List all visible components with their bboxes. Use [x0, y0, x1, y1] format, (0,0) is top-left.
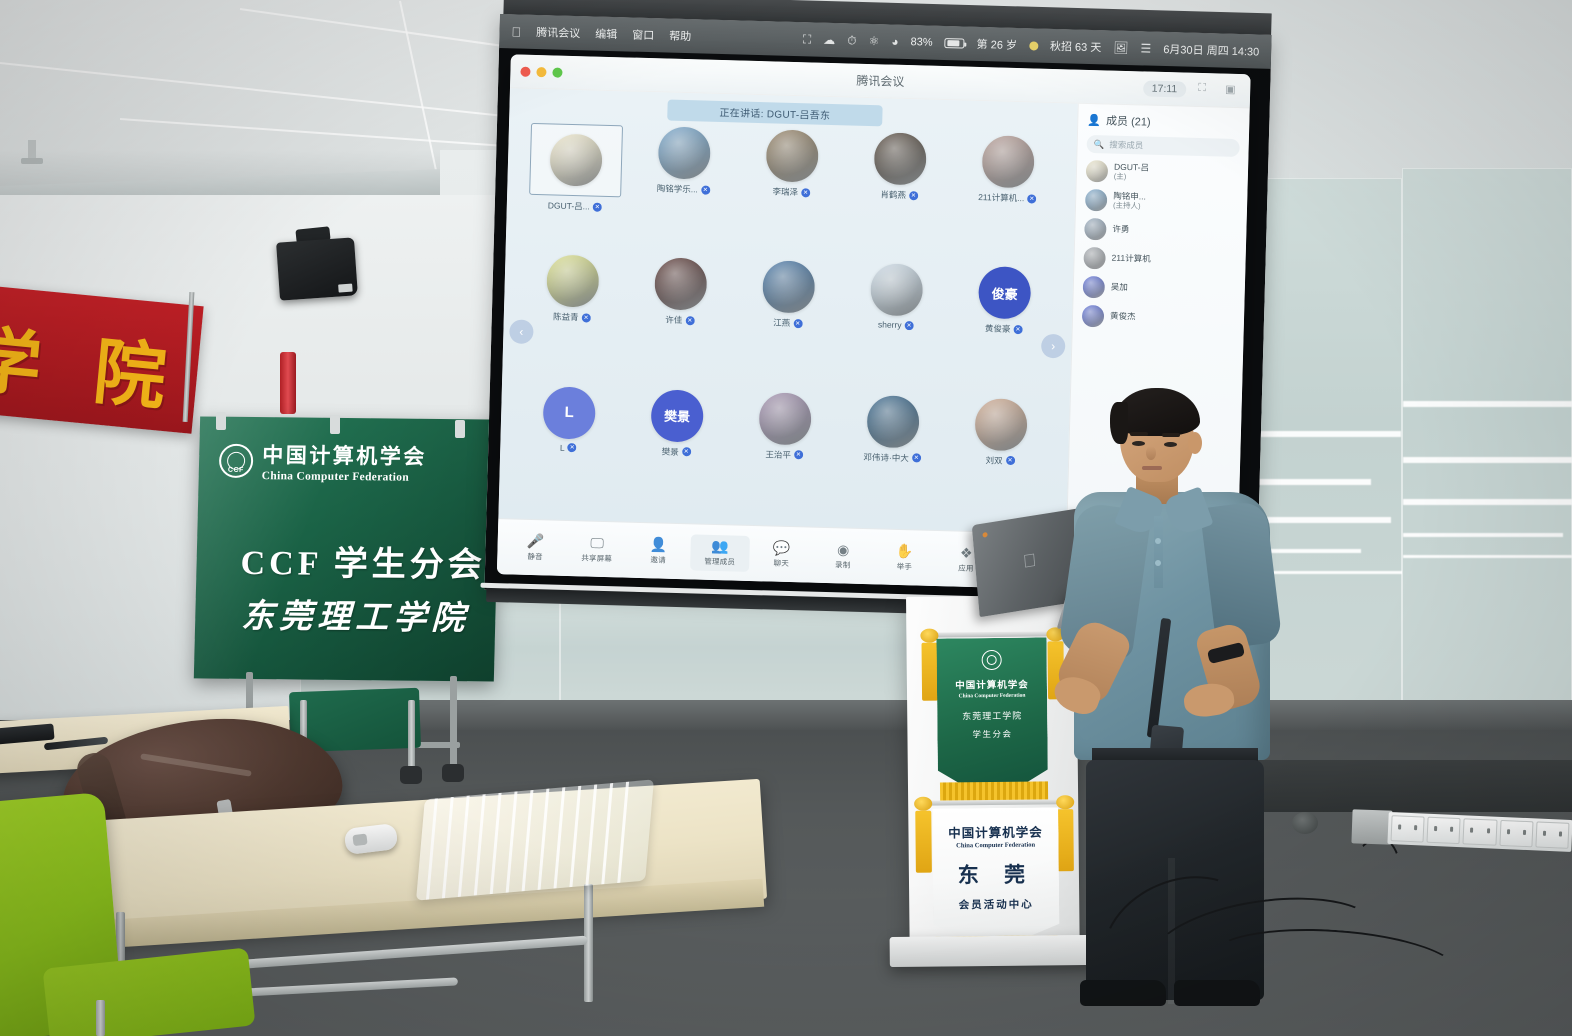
sidebar-search[interactable]: 🔍 搜索成员 [1086, 135, 1239, 157]
participant-tile[interactable]: 肖鹤燕✕ [845, 131, 955, 202]
record-icon: ◉ [837, 542, 850, 556]
sidebar-participant-row[interactable]: 211计算机 [1083, 247, 1237, 273]
avatar-initials: 樊景 [651, 389, 704, 442]
banner-clip [455, 420, 465, 438]
sidebar-participant-row[interactable]: 许勇 [1084, 218, 1238, 244]
screenshot-icon[interactable]: ⛶ [803, 32, 812, 47]
image-icon[interactable]: 🖼 [1113, 41, 1129, 55]
toolbar-label: 共享屏幕 [581, 552, 612, 564]
power-outlet[interactable] [1463, 818, 1497, 845]
white-flag-center: 会员活动中心 [959, 897, 1034, 913]
presenter-hair-side [1110, 402, 1128, 444]
chair-leg [96, 1000, 105, 1036]
presenter-mouth [1142, 466, 1162, 470]
participant-avatar [658, 126, 711, 179]
toolbar-label: 应用 [958, 562, 974, 573]
participant-name-text: 邓伟诗·中大 [863, 451, 909, 464]
battery-percent: 83% [910, 36, 932, 49]
share-screen-icon: 🖵 [590, 535, 604, 549]
battery-icon [945, 38, 965, 49]
participant-tile[interactable]: 李瑞泽✕ [737, 129, 847, 200]
participant-tile[interactable]: sherry✕ [842, 263, 952, 332]
flag-line1: 东莞理工学院 [962, 709, 1022, 723]
participant-tile[interactable]: 樊景樊景✕ [622, 388, 732, 459]
participant-name-text: 肖鹤燕 [880, 188, 906, 201]
toolbar-share-screen[interactable]: 🖵共享屏幕 [567, 535, 627, 565]
red-banner-text: 学 院 [0, 300, 185, 425]
participant-tile[interactable]: 王治平✕ [730, 391, 840, 462]
classroom-scene: 学 院 CCF 中国计算机学会 China Computer Federatio… [0, 0, 1572, 1036]
wall-speaker [276, 237, 358, 300]
participant-name-text: DGUT-吕... [548, 199, 590, 212]
presenter-nose [1146, 446, 1156, 460]
participant-name: 肖鹤燕✕ [880, 188, 918, 201]
participant-grid: DGUT-吕...✕陶铭学乐...✕李瑞泽✕肖鹤燕✕211计算机...✕陈益青✕… [498, 120, 1077, 533]
participant-name: 211计算机...✕ [978, 191, 1036, 205]
banner-clip [330, 416, 340, 434]
participant-avatar [874, 132, 927, 185]
menu-item-window[interactable]: 窗口 [632, 27, 654, 44]
power-outlet[interactable] [1535, 821, 1569, 848]
sidebar-participant-name: DGUT-吕(主) [1114, 162, 1149, 181]
participant-name: 江燕✕ [773, 317, 802, 330]
participant-tile[interactable]: LL✕ [514, 385, 624, 454]
menu-app-name[interactable]: 腾讯会议 [536, 24, 580, 41]
participant-avatar [654, 258, 707, 311]
menubar-datetime[interactable]: 6月30日 周四 14:30 [1163, 41, 1259, 60]
sidebar-participant-name: 黄俊杰 [1110, 312, 1136, 322]
mic-muted-icon: ✕ [794, 450, 803, 459]
participant-tile[interactable]: 刘双✕ [946, 397, 1056, 468]
shirt-button [1155, 538, 1161, 544]
participant-tile[interactable]: 江燕✕ [734, 260, 844, 331]
flag-org-cn: 中国计算机学会 [955, 677, 1029, 692]
apple-logo-icon:  [1022, 550, 1037, 573]
participant-name-text: 江燕 [773, 317, 790, 329]
toolbar-hand[interactable]: ✋举手 [874, 543, 934, 573]
mic-muted-icon: ✕ [701, 185, 710, 194]
ccf-banner-title: CCF 学生分会 [240, 535, 486, 587]
mic-muted-icon: ✕ [912, 453, 921, 462]
mic-muted-icon: ✕ [793, 319, 802, 328]
flag-org-en: China Computer Federation [959, 693, 1026, 700]
search-placeholder: 搜索成员 [1109, 139, 1143, 152]
power-outlet[interactable] [1499, 820, 1533, 847]
sidebar-participant-row[interactable]: DGUT-吕(主) [1086, 160, 1240, 186]
bluetooth-icon[interactable]: ⚛ [868, 34, 879, 48]
members-icon: 👤 [1087, 113, 1101, 126]
participant-avatar [766, 129, 819, 182]
members-icon: 👥 [711, 538, 729, 552]
power-outlet[interactable] [1427, 817, 1461, 844]
sidebar-participant-name: 211计算机 [1111, 254, 1150, 265]
status-countdown[interactable]: 秋招 63 天 [1050, 38, 1102, 55]
ccf-logo-icon [982, 650, 1002, 670]
sidebar-participant-list[interactable]: DGUT-吕(主)陶铭申...(主持人)许勇211计算机吴加黄俊杰 [1082, 160, 1239, 331]
shirt-placket [1154, 516, 1163, 588]
toolbar-invite[interactable]: 👤邀请 [628, 536, 688, 566]
participant-name-text: 黄俊豪 [985, 323, 1011, 336]
mic-muted-icon: ✕ [1027, 194, 1036, 203]
mic-muted-icon: ✕ [581, 313, 590, 322]
participant-name: 陈益青✕ [553, 311, 591, 324]
menu-item-help[interactable]: 帮助 [669, 28, 691, 45]
mic-muted-icon: ✕ [801, 188, 810, 197]
participant-avatar: 樊景 [651, 389, 704, 442]
status-dot-icon [1029, 41, 1038, 50]
shirt-button [1155, 560, 1161, 566]
toolbar-record[interactable]: ◉录制 [813, 541, 873, 571]
participant-name: 许佳✕ [665, 314, 694, 327]
ccf-green-banner: CCF 中国计算机学会 China Computer Federation CC… [194, 416, 500, 681]
participant-name: 王治平✕ [765, 448, 803, 461]
participant-name: 黄俊豪✕ [985, 323, 1023, 336]
banner-stand-caster [442, 764, 464, 782]
mic-muted-icon: ✕ [685, 316, 694, 325]
participant-grid-area: 正在讲话: DGUT-吕吾东 ‹ › DGUT-吕...✕陶铭学乐...✕李瑞泽… [497, 88, 1078, 589]
ccf-banner-subtitle: 东莞理工学院 [241, 589, 470, 639]
apps-icon: ❖ [960, 545, 973, 559]
participant-name-text: 许佳 [665, 314, 682, 326]
participant-avatar [981, 135, 1034, 188]
participant-name-text: 王治平 [765, 448, 791, 461]
glass-partition [1402, 168, 1572, 790]
participant-avatar [870, 263, 923, 316]
cart-caster [400, 766, 422, 784]
wifi-icon[interactable]: ◕ [891, 35, 899, 49]
sidebar-avatar [1084, 218, 1107, 241]
presenter-ear [1188, 432, 1202, 454]
sidebar-header: 👤 成员 (21) [1087, 112, 1240, 132]
sidebar-avatar [1086, 160, 1109, 183]
search-icon: 🔍 [1094, 139, 1105, 150]
sidebar-participant-name: 陶铭申...(主持人) [1113, 191, 1146, 210]
toolbar-members[interactable]: 👥管理成员 [690, 534, 751, 572]
participant-tile[interactable]: DGUT-吕...✕ [521, 123, 631, 214]
sidebar-participant-row[interactable]: 黄俊杰 [1082, 305, 1236, 331]
sidebar-participant-row[interactable]: 陶铭申...(主持人) [1085, 189, 1239, 215]
clock-icon[interactable]: ⏱ [847, 33, 857, 48]
presenter-eyebrow [1162, 433, 1180, 437]
participant-tile[interactable]: 邓伟诗·中大✕ [838, 394, 948, 465]
laptop-sticker [982, 532, 987, 538]
ccf-banner-header: CCF 中国计算机学会 China Computer Federation [219, 439, 428, 484]
white-flag-org-cn: 中国计算机学会 [948, 821, 1043, 841]
plastic-bag [416, 779, 654, 900]
participant-name-text: 樊景 [662, 445, 679, 457]
participant-name-text: 李瑞泽 [772, 185, 798, 198]
participant-name: DGUT-吕...✕ [548, 199, 602, 212]
participant-name-text: 刘双 [985, 454, 1002, 466]
mic-icon: 🎤 [527, 533, 545, 547]
participant-name-text: 211计算机... [978, 191, 1024, 204]
podium-green-flag: 中国计算机学会 China Computer Federation 东莞理工学院… [936, 637, 1048, 803]
ccf-seal-text: CCF [221, 466, 251, 473]
invite-icon: 👤 [650, 537, 668, 551]
participant-name-text: L [560, 442, 565, 452]
avatar-initials: L [543, 386, 596, 439]
participant-avatar [546, 255, 599, 308]
sidebar-participant-name: 许勇 [1112, 225, 1129, 235]
participant-avatar [974, 398, 1027, 451]
flag-line2: 学生分会 [972, 728, 1012, 740]
presenter-eye [1164, 442, 1177, 447]
banner-stand-leg [450, 676, 457, 768]
white-flag-city: 东 莞 [958, 859, 1035, 890]
banner-pole [280, 352, 296, 414]
tassel [921, 643, 938, 701]
sidebar-participant-role: (主) [1114, 172, 1149, 182]
mic-muted-icon: ✕ [568, 443, 577, 452]
cart-leg [408, 700, 415, 774]
sidebar-avatar [1082, 305, 1105, 328]
sidebar-participant-role: (主持人) [1113, 201, 1146, 211]
participant-name: 陶铭学乐...✕ [657, 182, 710, 195]
participant-tile[interactable]: 陈益青✕ [518, 254, 628, 325]
white-flag-org-en: China Computer Federation [956, 842, 1035, 850]
sidebar-avatar [1083, 276, 1106, 299]
tassel [915, 811, 932, 873]
participant-avatar: 俊豪 [978, 266, 1031, 319]
participant-name-text: 陶铭学乐... [657, 182, 698, 195]
chat-icon: 💬 [773, 540, 791, 554]
presenter-eye [1132, 441, 1145, 446]
fullscreen-icon[interactable]: ⛶ [1198, 82, 1213, 97]
podium-white-flag: 中国计算机学会 China Computer Federation 东 莞 会员… [932, 807, 1059, 950]
participant-avatar [866, 395, 919, 448]
toolbar-mic[interactable]: 🎤静音 [505, 533, 565, 563]
participant-tile[interactable]: 许佳✕ [626, 257, 736, 328]
participant-name: sherry✕ [878, 320, 914, 331]
participant-name: 李瑞泽✕ [772, 185, 810, 198]
tassel-knot [920, 629, 938, 643]
participant-name: 刘双✕ [985, 454, 1014, 467]
participant-grid-row: 陈益青✕许佳✕江燕✕sherry✕俊豪黄俊豪✕ [516, 254, 1059, 400]
mic-muted-icon: ✕ [593, 202, 602, 211]
red-banner: 学 院 [0, 286, 204, 434]
participant-name: 樊景✕ [662, 445, 691, 458]
layout-icon[interactable]: ▣ [1225, 83, 1240, 98]
participant-avatar [549, 133, 602, 186]
ccf-org-name-cn: 中国计算机学会 [262, 439, 427, 471]
ccf-logo-icon: CCF [219, 443, 254, 477]
toolbar-label: 聊天 [773, 557, 789, 568]
mic-muted-icon: ✕ [904, 321, 913, 330]
participant-grid-row: DGUT-吕...✕陶铭学乐...✕李瑞泽✕肖鹤燕✕211计算机...✕ [520, 123, 1063, 269]
status-age[interactable]: 第 26 岁 [976, 36, 1017, 53]
mic-muted-icon: ✕ [1013, 325, 1022, 334]
sidebar-avatar [1083, 247, 1106, 270]
sidebar-participant-row[interactable]: 吴加 [1083, 276, 1237, 302]
outlet-junction-box [1351, 809, 1392, 844]
toolbar-chat[interactable]: 💬聊天 [751, 540, 811, 570]
members-count: 成员 (21) [1106, 112, 1151, 129]
sidebar-avatar [1085, 189, 1108, 212]
toolbar-label: 录制 [835, 559, 851, 570]
participant-avatar: L [543, 386, 596, 439]
toolbar-label: 邀请 [650, 554, 666, 565]
participant-tile[interactable]: 陶铭学乐...✕ [629, 126, 739, 197]
wall-base [1240, 760, 1572, 812]
participant-name-text: sherry [878, 320, 902, 331]
banner-clip [216, 412, 226, 430]
avatar-initials: 俊豪 [978, 266, 1031, 319]
ccf-org-name-en: China Computer Federation [262, 470, 427, 484]
sidebar-participant-name: 吴加 [1111, 283, 1128, 293]
wall-conduit-hole [1292, 812, 1318, 834]
participant-avatar [762, 261, 815, 314]
participant-name: L✕ [560, 442, 577, 452]
participant-name: 邓伟诗·中大✕ [863, 451, 921, 465]
participant-tile[interactable]: 俊豪黄俊豪✕ [950, 266, 1060, 337]
speaking-banner: 正在讲话: DGUT-吕吾东 [667, 100, 882, 127]
participant-avatar [758, 392, 811, 445]
mic-muted-icon: ✕ [909, 191, 918, 200]
participant-grid-row: LL✕樊景樊景✕王治平✕邓伟诗·中大✕刘双✕ [512, 385, 1055, 531]
presenter-eyebrow [1130, 432, 1148, 436]
menu-item-edit[interactable]: 编辑 [595, 26, 617, 43]
toolbar-label: 管理成员 [704, 555, 735, 567]
active-speaker-frame [529, 123, 623, 197]
mic-muted-icon: ✕ [1005, 456, 1014, 465]
apple-logo-icon[interactable]:  [511, 25, 521, 38]
power-outlet[interactable] [1391, 815, 1425, 842]
toolbar-label: 静音 [527, 550, 543, 561]
speaker-label [338, 284, 353, 293]
participant-name-text: 陈益青 [553, 311, 579, 324]
participant-tile[interactable]: 211计算机...✕ [953, 134, 1063, 205]
hand-icon: ✋ [896, 543, 914, 557]
ceiling-hook [28, 140, 36, 160]
mic-muted-icon: ✕ [682, 447, 691, 456]
control-center-icon[interactable]: ☰ [1140, 41, 1151, 55]
cloud-icon[interactable]: ☁ [823, 33, 835, 47]
toolbar-label: 举手 [897, 560, 913, 571]
